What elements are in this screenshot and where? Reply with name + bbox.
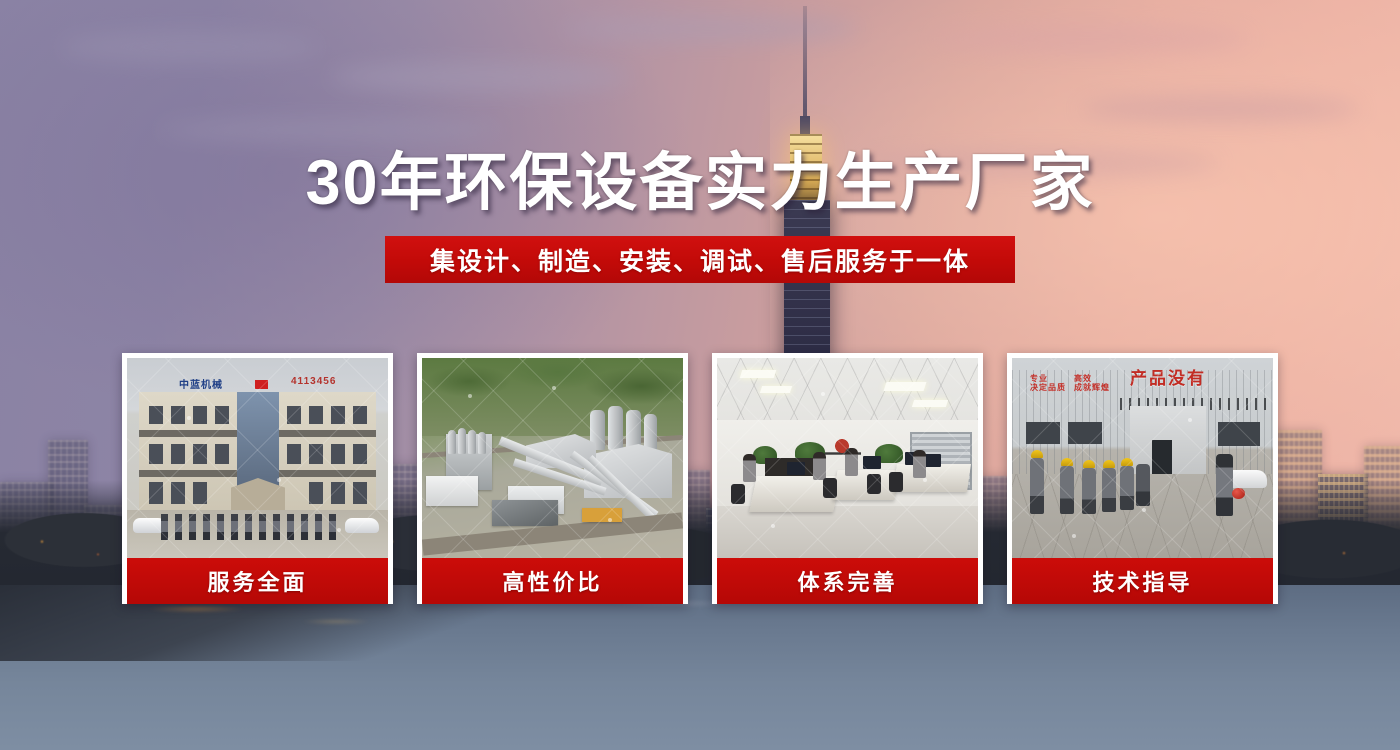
factory-side-slogan: 专业决定品质 — [1030, 374, 1066, 392]
card-caption: 服务全面 — [127, 558, 388, 604]
feature-card[interactable]: 高性价比 — [417, 353, 688, 604]
office-building-staff-photo: 中蓝机械 4113456 — [127, 358, 388, 558]
feature-card[interactable]: 中蓝机械 4113456 — [122, 353, 393, 604]
subtitle-text: 集设计、制造、安装、调试、售后服务于一体 — [430, 242, 970, 278]
card-caption-text: 高性价比 — [502, 565, 602, 597]
card-caption-text: 技术指导 — [1092, 565, 1192, 597]
building-phone-text: 4113456 — [291, 376, 336, 387]
feature-card[interactable]: 体系完善 — [712, 353, 983, 604]
workers-training-factory-photo: 产品没有 专业决定品质 高效成就辉煌 — [1012, 358, 1273, 558]
cloud-shape — [1080, 96, 1360, 122]
factory-side-slogan: 高效成就辉煌 — [1074, 374, 1110, 392]
subtitle-banner: 集设计、制造、安装、调试、售后服务于一体 — [385, 236, 1015, 283]
card-caption-text: 体系完善 — [797, 565, 897, 597]
cloud-shape — [930, 24, 1250, 54]
hero-banner: 30年环保设备实力生产厂家 集设计、制造、安装、调试、售后服务于一体 — [0, 0, 1400, 750]
factory-slogan-text: 产品没有 — [1130, 364, 1206, 389]
card-caption-text: 服务全面 — [207, 565, 307, 597]
card-caption: 技术指导 — [1012, 558, 1273, 604]
feature-cards: 中蓝机械 4113456 — [122, 353, 1278, 604]
office-interior-staff-photo — [717, 358, 978, 558]
card-caption: 体系完善 — [717, 558, 978, 604]
aerial-factory-plant-photo — [422, 358, 683, 558]
card-caption: 高性价比 — [422, 558, 683, 604]
cloud-shape — [330, 62, 630, 92]
building-sign-text: 中蓝机械 — [179, 376, 223, 391]
page-title: 30年环保设备实力生产厂家 — [0, 132, 1400, 223]
cloud-shape — [60, 30, 320, 64]
cloud-shape — [560, 16, 860, 42]
feature-card[interactable]: 产品没有 专业决定品质 高效成就辉煌 — [1007, 353, 1278, 604]
